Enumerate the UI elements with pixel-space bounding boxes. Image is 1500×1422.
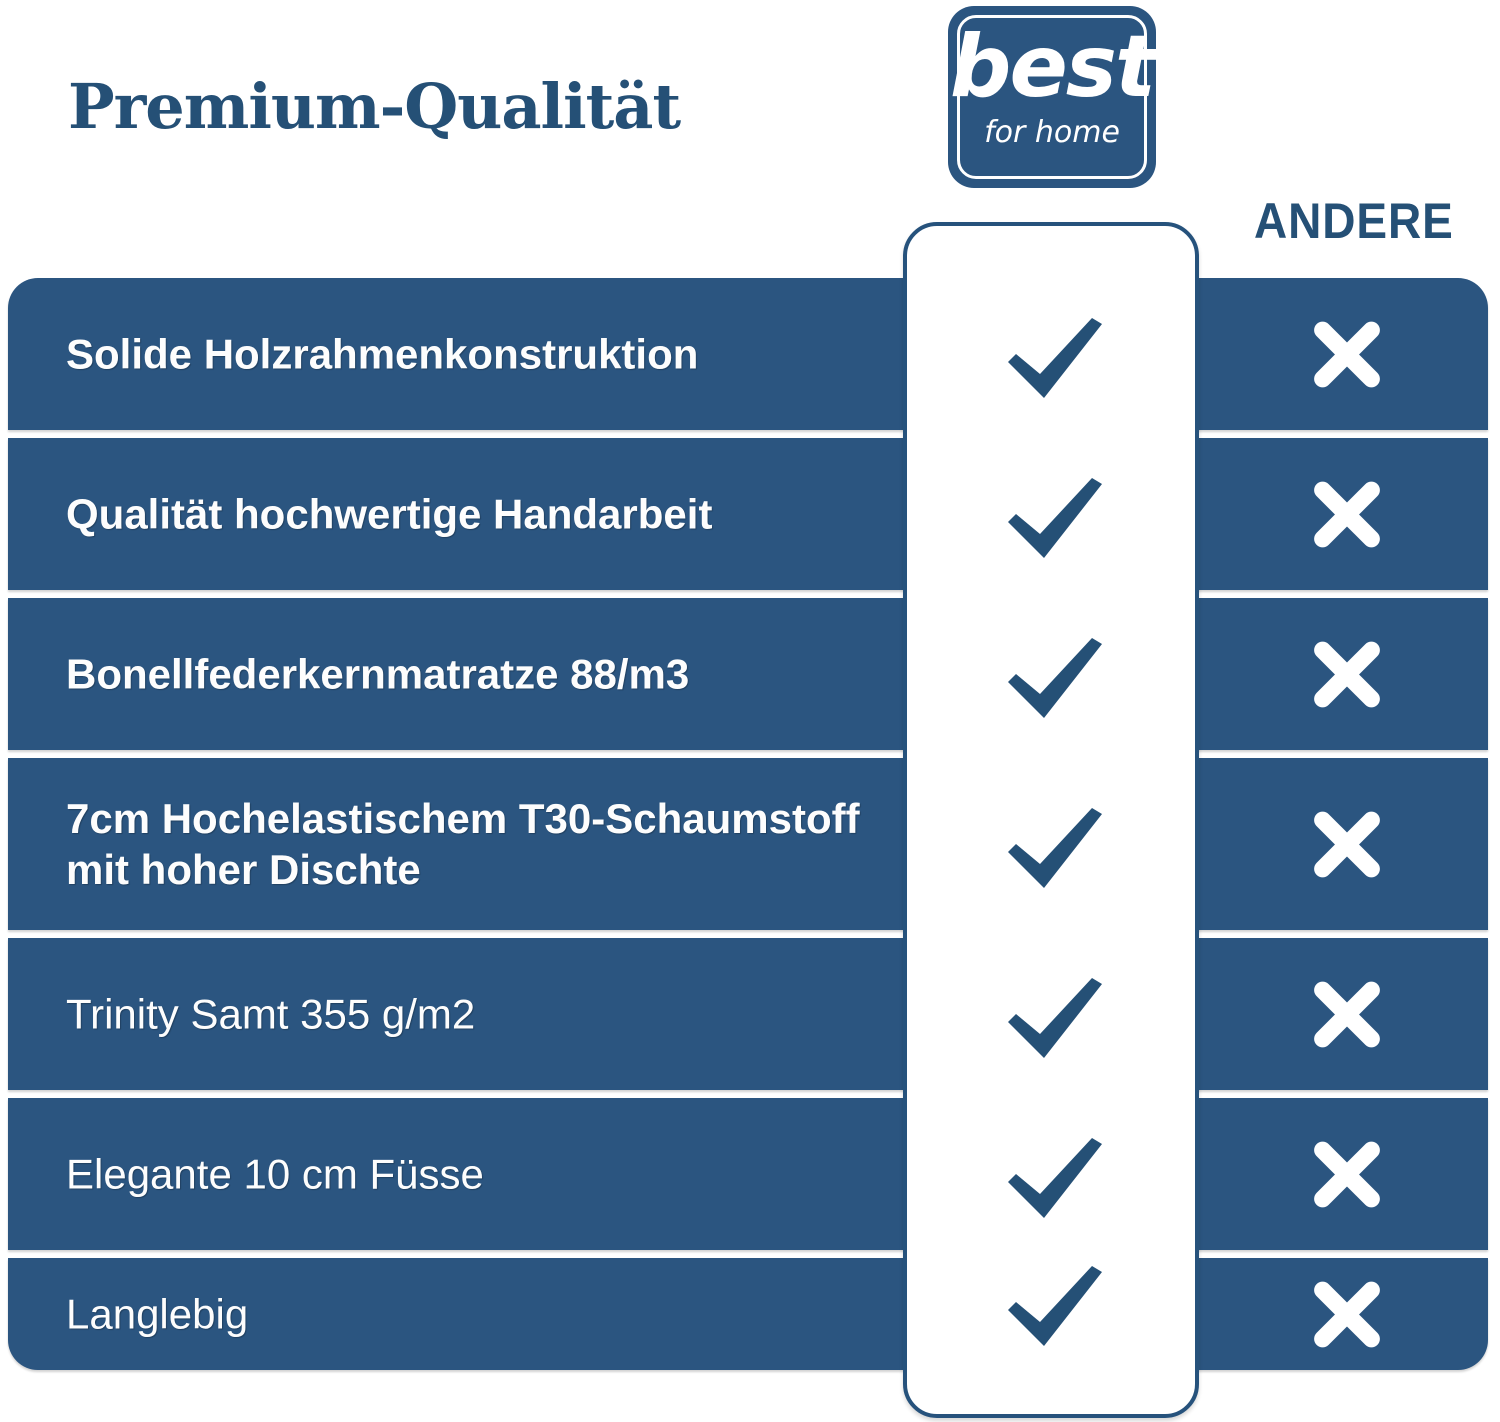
best-for-home-column (903, 222, 1199, 1418)
row-label: Qualität hochwertige Handarbeit (66, 488, 886, 539)
check-icon (1000, 312, 1110, 404)
row-label: Solide Holzrahmenkonstruktion (66, 328, 886, 379)
table-row: Bonellfederkernmatratze 88/m3 (8, 598, 1488, 750)
logo-tagline-text: for home (948, 118, 1156, 148)
row-label: Langlebig (66, 1288, 886, 1339)
check-icon (1000, 802, 1110, 894)
cross-icon (1304, 311, 1390, 397)
page-title: Premium-Qualität (68, 70, 680, 143)
brand-logo: best for home (948, 6, 1156, 188)
comparison-table: Solide Holzrahmenkonstruktion Qualität h… (8, 278, 1488, 1370)
logo-brand-text: best (948, 24, 1156, 110)
check-icon (1000, 972, 1110, 1064)
check-icon (1000, 632, 1110, 724)
row-label: Trinity Samt 355 g/m2 (66, 988, 886, 1039)
cross-icon (1304, 801, 1390, 887)
table-row: Trinity Samt 355 g/m2 (8, 938, 1488, 1090)
row-label: Bonellfederkernmatratze 88/m3 (66, 648, 886, 699)
check-icon (1000, 1260, 1110, 1352)
cross-icon (1304, 971, 1390, 1057)
table-row: 7cm Hochelastischem T30-Schaumstoff mit … (8, 758, 1488, 930)
row-label: Elegante 10 cm Füsse (66, 1148, 886, 1199)
table-row: Qualität hochwertige Handarbeit (8, 438, 1488, 590)
cross-icon (1304, 1271, 1390, 1357)
check-icon (1000, 1132, 1110, 1224)
table-row: Langlebig (8, 1258, 1488, 1370)
table-row: Elegante 10 cm Füsse (8, 1098, 1488, 1250)
table-row: Solide Holzrahmenkonstruktion (8, 278, 1488, 430)
cross-icon (1304, 471, 1390, 557)
row-label: 7cm Hochelastischem T30-Schaumstoff mit … (66, 793, 886, 895)
cross-icon (1304, 631, 1390, 717)
check-icon (1000, 472, 1110, 564)
others-column-title: ANDERE (1254, 192, 1454, 250)
cross-icon (1304, 1131, 1390, 1217)
